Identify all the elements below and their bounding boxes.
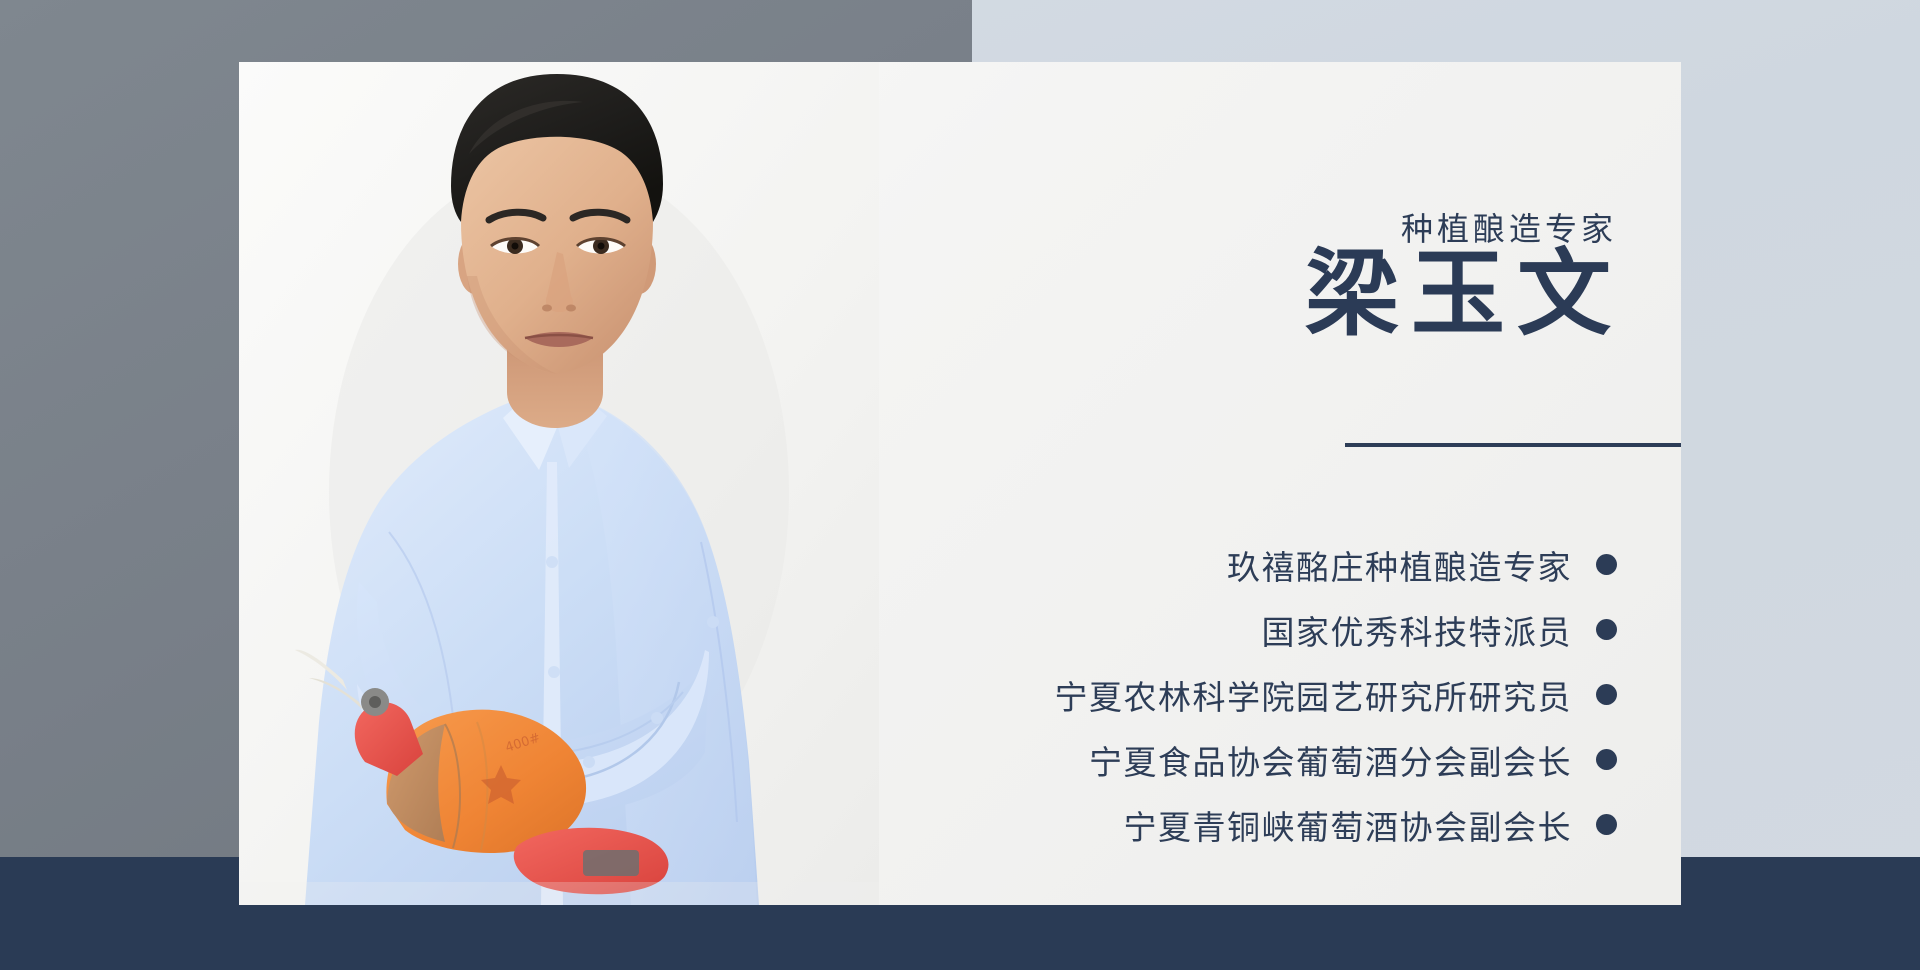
portrait-illustration: 400# bbox=[239, 62, 879, 905]
list-item: 国家优秀科技特派员 bbox=[937, 597, 1617, 662]
list-item: 宁夏青铜峡葡萄酒协会副会长 bbox=[937, 792, 1617, 857]
bullet-dot-icon bbox=[1596, 814, 1617, 835]
glove-star-print bbox=[481, 765, 521, 804]
pruner-handle-upper bbox=[355, 702, 423, 776]
divider-rule bbox=[1345, 443, 1681, 447]
portrait-photo: 400# bbox=[239, 62, 879, 905]
bullet-dot-icon bbox=[1596, 554, 1617, 575]
poster-canvas: 400# 种植酿造专家 梁玉文 玖禧酩 bbox=[0, 0, 1920, 970]
pruner-label bbox=[583, 850, 639, 876]
list-item: 玖禧酩庄种植酿造专家 bbox=[937, 532, 1617, 597]
glove-orange bbox=[386, 710, 586, 853]
shirt bbox=[305, 392, 759, 905]
credential-label: 国家优秀科技特派员 bbox=[1262, 606, 1573, 654]
svg-text:400#: 400# bbox=[504, 731, 543, 756]
bullet-dot-icon bbox=[1596, 619, 1617, 640]
credential-label: 宁夏农林科学院园艺研究所研究员 bbox=[1055, 671, 1573, 719]
credentials-list: 玖禧酩庄种植酿造专家 国家优秀科技特派员 宁夏农林科学院园艺研究所研究员 宁夏食… bbox=[937, 532, 1617, 857]
credential-label: 玖禧酩庄种植酿造专家 bbox=[1227, 541, 1572, 589]
face bbox=[461, 90, 653, 374]
profile-card: 400# 种植酿造专家 梁玉文 玖禧酩 bbox=[239, 62, 1681, 905]
profile-name: 梁玉文 bbox=[1305, 242, 1623, 347]
glove-fingers bbox=[387, 724, 445, 842]
neck bbox=[507, 312, 603, 428]
bullet-dot-icon bbox=[1596, 684, 1617, 705]
forearm-sleeve-left bbox=[357, 582, 709, 812]
credential-label: 宁夏青铜峡葡萄酒协会副会长 bbox=[1124, 801, 1573, 849]
list-item: 宁夏食品协会葡萄酒分会副会长 bbox=[937, 727, 1617, 792]
credential-label: 宁夏食品协会葡萄酒分会副会长 bbox=[1089, 736, 1572, 784]
bullet-dot-icon bbox=[1596, 749, 1617, 770]
list-item: 宁夏农林科学院园艺研究所研究员 bbox=[937, 662, 1617, 727]
profile-text-column: 种植酿造专家 梁玉文 玖禧酩庄种植酿造专家 国家优秀科技特派员 宁夏农林科学院园… bbox=[939, 62, 1681, 905]
hair bbox=[451, 74, 663, 222]
pruner-handle-lower bbox=[514, 828, 669, 894]
